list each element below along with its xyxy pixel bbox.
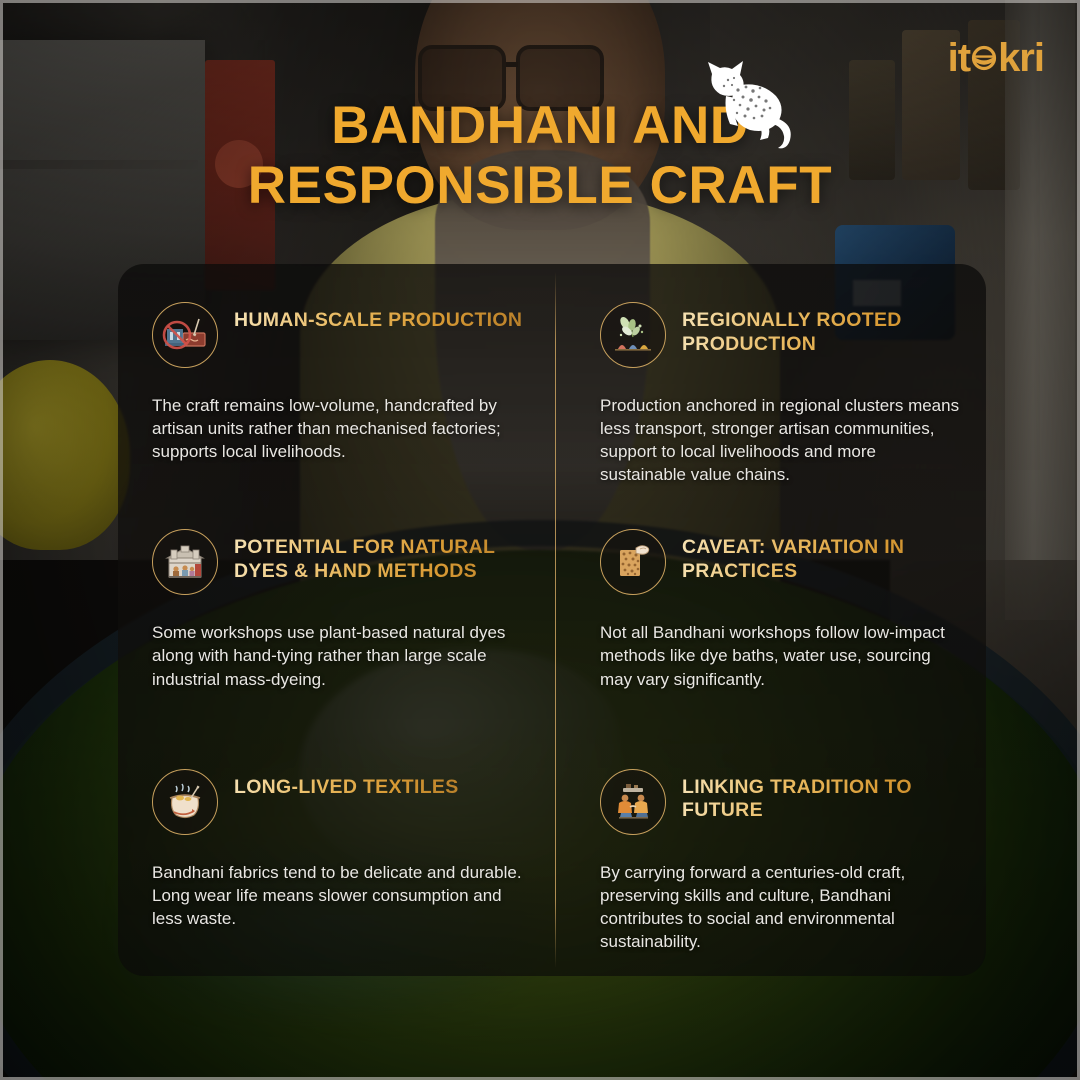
hand-holding-fabric-icon (600, 529, 666, 595)
item-body: By carrying forward a centuries-old craf… (600, 861, 966, 953)
logo-text-kri: kri (998, 38, 1044, 78)
item-card-long-lived-textiles: LONG-LIVED TEXTILES Bandhani fabrics ten… (118, 739, 552, 976)
item-title: POTENTIAL FOR NATURAL DYES & HAND METHOD… (234, 527, 524, 584)
item-card-linking-tradition-to-future: LINKING TRADITION TO FUTURE By carrying … (552, 739, 986, 976)
natural-dye-leaves-icon (600, 302, 666, 368)
artisans-tradition-icon (600, 769, 666, 835)
artisan-workshop-icon (152, 529, 218, 595)
item-card-caveat-variation-in-practices: CAVEAT: VARIATION IN PRACTICES Not all B… (552, 501, 986, 738)
item-title: LONG-LIVED TEXTILES (234, 767, 459, 800)
dye-pot-icon (152, 769, 218, 835)
basket-icon (971, 45, 997, 71)
item-header: HUMAN-SCALE PRODUCTION (152, 300, 524, 368)
itokri-logo[interactable]: itkri (948, 38, 1044, 78)
item-header: LONG-LIVED TEXTILES (152, 767, 524, 835)
item-body: Some workshops use plant-based natural d… (152, 621, 524, 690)
item-header: POTENTIAL FOR NATURAL DYES & HAND METHOD… (152, 527, 524, 595)
item-card-natural-dyes-hand-methods: POTENTIAL FOR NATURAL DYES & HAND METHOD… (118, 501, 552, 738)
item-title: CAVEAT: VARIATION IN PRACTICES (682, 527, 966, 584)
item-body: Bandhani fabrics tend to be delicate and… (152, 861, 524, 930)
item-body: Production anchored in regional clusters… (600, 394, 966, 486)
items-grid: HUMAN-SCALE PRODUCTION The craft remains… (118, 264, 986, 976)
infographic-poster: itkri BANDHANI AND RESPONSIBLE CRAFT (0, 0, 1080, 1080)
page-title: BANDHANI AND RESPONSIBLE CRAFT (0, 96, 1080, 217)
item-card-regionally-rooted-production: REGIONALLY ROOTED PRODUCTION Production … (552, 264, 986, 501)
item-title: LINKING TRADITION TO FUTURE (682, 767, 966, 824)
item-card-human-scale-production: HUMAN-SCALE PRODUCTION The craft remains… (118, 264, 552, 501)
item-body: Not all Bandhani workshops follow low-im… (600, 621, 966, 690)
item-title: REGIONALLY ROOTED PRODUCTION (682, 300, 966, 357)
item-title: HUMAN-SCALE PRODUCTION (234, 300, 522, 333)
content-panel: HUMAN-SCALE PRODUCTION The craft remains… (118, 264, 986, 976)
no-factory-icon (152, 302, 218, 368)
logo-text-i: it (948, 38, 970, 78)
item-header: REGIONALLY ROOTED PRODUCTION (600, 300, 966, 368)
item-header: CAVEAT: VARIATION IN PRACTICES (600, 527, 966, 595)
item-body: The craft remains low-volume, handcrafte… (152, 394, 524, 463)
item-header: LINKING TRADITION TO FUTURE (600, 767, 966, 835)
